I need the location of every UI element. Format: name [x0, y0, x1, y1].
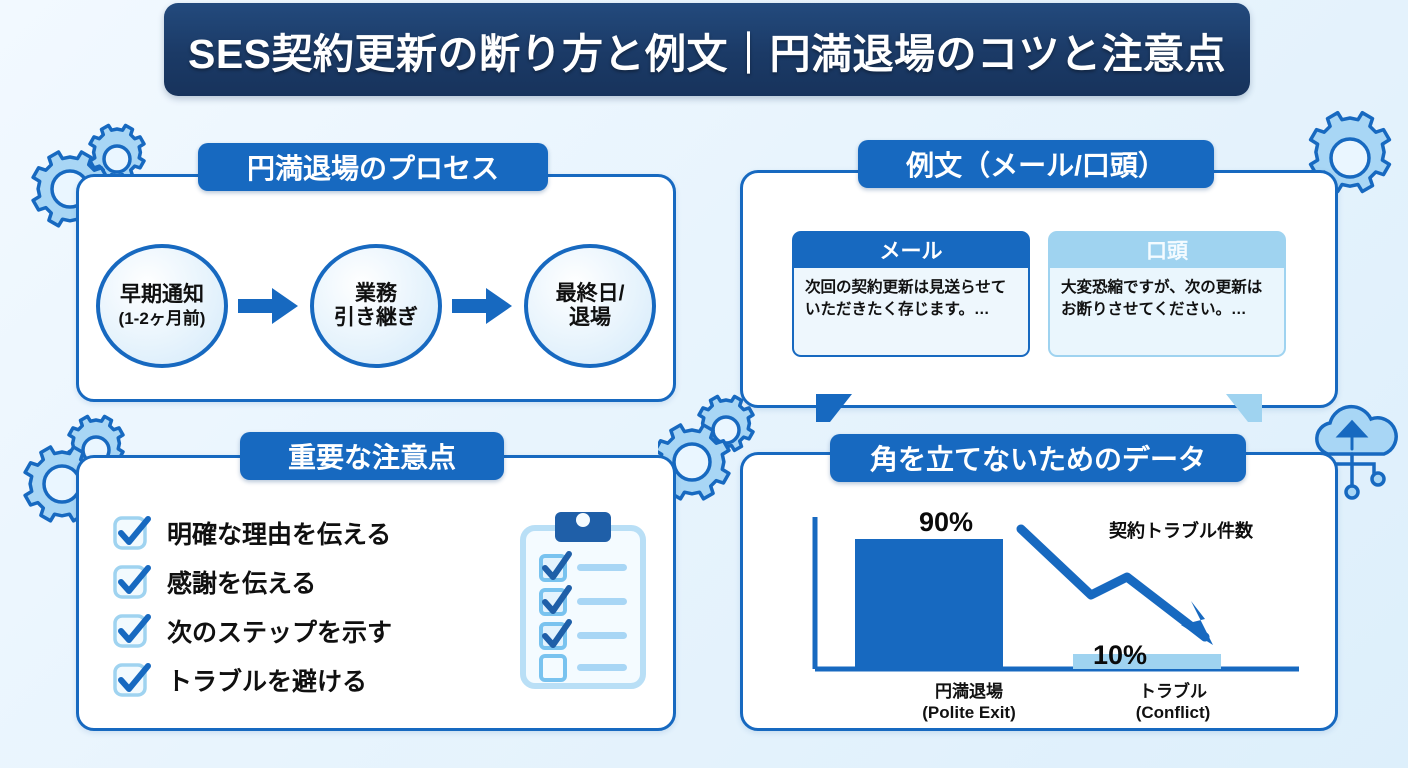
checklist-item-label: 感謝を伝える [167, 564, 316, 600]
flow-arrow-1-icon [238, 286, 300, 326]
checkbox-checked-icon [113, 563, 151, 601]
checklist-item: 次のステップを示す [113, 606, 463, 655]
example-bubble-mail: メール 次回の契約更新は見送らせていただきたく存じます。… [792, 231, 1030, 396]
process-step-3: 最終日/ 退場 [524, 244, 656, 368]
category-label-conflict: トラブル (Conflict) [1083, 681, 1263, 724]
section-label-data: 角を立てないためのデータ [830, 434, 1246, 482]
notes-checklist: 明確な理由を伝える 感謝を伝える 次のステップを [113, 508, 463, 704]
checklist-item-label: 次のステップを示す [167, 613, 392, 649]
trend-arrow-icon [1021, 529, 1213, 645]
chart-area: 90% 10% 契約トラブル件数 円満退場 (Polite Exit) トラブル… [743, 497, 1335, 725]
step-1-line1: 早期通知 [120, 283, 204, 307]
category-label-polite-jp: 円満退場 [879, 681, 1059, 702]
bubble-mail-tail [816, 394, 852, 422]
bar-value-polite-exit: 90% [919, 507, 973, 538]
category-label-polite-en: (Polite Exit) [879, 702, 1059, 723]
panel-data: 90% 10% 契約トラブル件数 円満退場 (Polite Exit) トラブル… [740, 452, 1338, 731]
section-label-process: 円満退場のプロセス [198, 143, 548, 191]
section-label-examples: 例文（メール/口頭） [858, 140, 1214, 188]
checklist-item-label: 明確な理由を伝える [167, 515, 391, 551]
category-label-polite-exit: 円満退場 (Polite Exit) [879, 681, 1059, 724]
bar-value-conflict: 10% [1093, 640, 1147, 671]
page-title: SES契約更新の断り方と例文｜円満退場のコツと注意点 [188, 20, 1226, 80]
checklist-item: 明確な理由を伝える [113, 508, 463, 557]
trend-annotation-label: 契約トラブル件数 [1109, 517, 1253, 543]
panel-notes: 明確な理由を伝える 感謝を伝える 次のステップを [76, 455, 676, 731]
bar-polite-exit [855, 539, 1003, 669]
infographic-canvas: SES契約更新の断り方と例文｜円満退場のコツと注意点 円満退場のプロセス 早期通… [0, 0, 1408, 768]
flow-arrow-2-icon [452, 286, 514, 326]
bubble-oral-header: 口頭 [1048, 231, 1286, 268]
process-step-2: 業務 引き継ぎ [310, 244, 442, 368]
bubble-mail-text: 次回の契約更新は見送らせていただきたく存じます。… [792, 268, 1030, 357]
step-3-line2: 退場 [569, 306, 611, 330]
bubble-oral-text: 大変恐縮ですが、次の更新はお断りさせてください。… [1048, 268, 1286, 357]
bubble-mail-header: メール [792, 231, 1030, 268]
checklist-item-label: トラブルを避ける [167, 662, 367, 698]
process-flow: 早期通知 (1-2ヶ月前) 業務 引き継ぎ 最終日/ 退場 [79, 221, 673, 391]
step-2-line2: 引き継ぎ [334, 306, 418, 330]
clipboard-icon [515, 506, 651, 692]
checkbox-checked-icon [113, 661, 151, 699]
checklist-item: 感謝を伝える [113, 557, 463, 606]
category-label-conflict-jp: トラブル [1083, 681, 1263, 702]
step-3-line1: 最終日/ [556, 282, 625, 306]
panel-process: 早期通知 (1-2ヶ月前) 業務 引き継ぎ 最終日/ 退場 [76, 174, 676, 402]
process-step-1: 早期通知 (1-2ヶ月前) [96, 244, 228, 368]
category-label-conflict-en: (Conflict) [1083, 702, 1263, 723]
bubble-oral-tail [1226, 394, 1262, 422]
example-bubble-oral: 口頭 大変恐縮ですが、次の更新はお断りさせてください。… [1048, 231, 1286, 396]
checkbox-checked-icon [113, 514, 151, 552]
section-label-notes: 重要な注意点 [240, 432, 504, 480]
checklist-item: トラブルを避ける [113, 655, 463, 704]
example-bubbles: メール 次回の契約更新は見送らせていただきたく存じます。… 口頭 大変恐縮ですが… [743, 231, 1335, 396]
checkbox-checked-icon [113, 612, 151, 650]
step-1-line2: (1-2ヶ月前) [119, 309, 206, 329]
step-2-line1: 業務 [355, 282, 397, 306]
panel-examples: メール 次回の契約更新は見送らせていただきたく存じます。… 口頭 大変恐縮ですが… [740, 170, 1338, 408]
header-banner: SES契約更新の断り方と例文｜円満退場のコツと注意点 [164, 3, 1250, 96]
